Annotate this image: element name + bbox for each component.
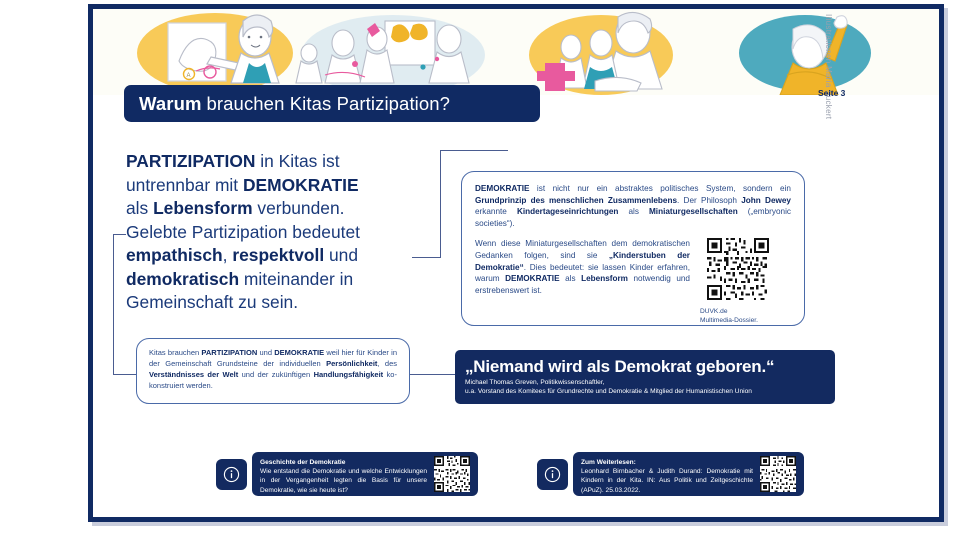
quote-source-line1: Michael Thomas Greven, Politikwissenscha… [465, 379, 825, 388]
demo-b2: Grundprinzip des menschlichen Zusammenle… [475, 196, 677, 205]
demokratie-qr-caption: DUVK.de Multimedia-Dossier. [698, 308, 758, 325]
illustration-band: A [93, 9, 939, 95]
info-heading-weiterlesen: Zum Weiterlesen: [581, 458, 753, 467]
hero-b-lebensform: Lebensform [153, 198, 253, 218]
hero-t4: verbunden. [253, 198, 345, 218]
hero-line-5: empathisch, respektvoll und [126, 244, 418, 268]
hero-t1: in Kitas ist [255, 151, 339, 171]
demokratie-qr-wrap[interactable]: DUVK.de Multimedia-Dossier. [698, 238, 778, 325]
connector-left-top [113, 234, 126, 235]
demokratie-paragraph-2-wrap: Wenn diese Miniaturgesellschaften dem de… [475, 238, 690, 325]
demokratie-lower-row: Wenn diese Miniaturgesellschaften dem de… [475, 238, 791, 325]
demo-t2: . Der Philosoph [677, 196, 741, 205]
illustration-credit: Illustrationen Maria Suckert [819, 14, 833, 124]
kitas-t2: und [257, 348, 274, 357]
hero-t7: miteinander in [239, 269, 353, 289]
hero-b-respektvoll: respektvoll [232, 245, 324, 265]
qr-code-icon[interactable] [760, 456, 796, 492]
poster-page: A [0, 0, 960, 540]
info-button-geschichte[interactable] [216, 459, 247, 490]
kitas-paragraph: Kitas brauchen PARTIZIPATION und DEMOKRA… [149, 347, 397, 391]
info-circle-icon[interactable] [544, 466, 561, 483]
kitas-t5: und der zukünftigen [238, 370, 313, 379]
info-text-weiterlesen: Zum Weiterlesen: Leonhard Birnbacher & J… [581, 458, 753, 495]
demo-b3: John Dewey [741, 196, 791, 205]
connector-right-vertical [440, 150, 441, 258]
demo-b8: Lebensform [581, 274, 628, 283]
info-circle-icon[interactable] [223, 466, 240, 483]
demo-b4: Kindertageseinrichtungen [517, 207, 618, 216]
info-body-weiterlesen: Leonhard Birnbacher & Judith Durand: Dem… [581, 468, 753, 493]
info-panel-geschichte[interactable]: Geschichte der Demokratie Wie entstand d… [252, 452, 478, 496]
demo-t8: als [560, 274, 582, 283]
demokratie-paragraph-1: DEMOKRATIE ist nicht nur ein abstraktes … [475, 183, 791, 229]
illustration-artwork: A [93, 9, 939, 95]
hero-b-demokratisch: demokratisch [126, 269, 239, 289]
kitas-info-box: Kitas brauchen PARTIZIPATION und DEMOKRA… [136, 338, 410, 404]
connector-right-top [440, 150, 508, 151]
page-title-bold: Warum [139, 93, 202, 115]
demo-t3: erkannte [475, 207, 517, 216]
hero-t2: untrennbar mit [126, 175, 243, 195]
demokratie-info-box: DEMOKRATIE ist nicht nur ein abstraktes … [461, 171, 805, 326]
hero-b-empathisch: empathisch [126, 245, 223, 265]
hero-statement: PARTIZIPATION in Kitas ist untrennbar mi… [126, 150, 418, 315]
kitas-b4: Verständnisses der Welt [149, 370, 238, 379]
kitas-b5: Handlungsfähigkeit [314, 370, 384, 379]
hero-line-2: untrennbar mit DEMOKRATIE [126, 174, 418, 198]
hero-t6: und [324, 245, 358, 265]
info-card-weiterlesen[interactable]: Zum Weiterlesen: Leonhard Birnbacher & J… [537, 452, 804, 496]
demokratie-paragraph-2: Wenn diese Miniaturgesellschaften dem de… [475, 238, 690, 296]
hero-line-3: als Lebensform verbunden. [126, 197, 418, 221]
kitas-t1: Kitas brauchen [149, 348, 201, 357]
connector-right-bottom [412, 257, 441, 258]
kitas-b3: Persönlichkeit [326, 359, 377, 368]
hero-line-4: Gelebte Partizipation bedeutet [126, 221, 418, 245]
info-body-geschichte: Wie entstand die Demokratie und welche E… [260, 468, 427, 493]
hero-line-6: demokratisch miteinander in [126, 268, 418, 292]
hero-line-7: Gemeinschaft zu sein. [126, 291, 418, 315]
connector-left-vertical [113, 234, 114, 375]
connector-kitas-to-quote [410, 374, 456, 375]
kitas-b1: PARTIZIPATION [201, 348, 257, 357]
page-number: Seite 3 [818, 88, 845, 98]
connector-left-bottom [113, 374, 137, 375]
qr-code-icon[interactable] [707, 238, 769, 300]
quote-source-line2: u.a. Vorstand des Komitees für Grundrech… [465, 388, 825, 397]
quote-banner: „Niemand wird als Demokrat geboren.“ Mic… [455, 350, 835, 404]
demo-b7: DEMOKRATIE [505, 274, 559, 283]
info-card-geschichte[interactable]: Geschichte der Demokratie Wie entstand d… [216, 452, 478, 496]
page-title-rest: brauchen Kitas Partizipation? [207, 93, 451, 115]
quote-text: „Niemand wird als Demokrat geboren.“ [465, 356, 825, 377]
hero-t5: , [223, 245, 233, 265]
demo-t4: als [618, 207, 649, 216]
hero-t3: als [126, 198, 153, 218]
hero-b-demokratie: DEMOKRATIE [243, 175, 359, 195]
info-button-weiterlesen[interactable] [537, 459, 568, 490]
demo-b1: DEMOKRATIE [475, 184, 529, 193]
kitas-b2: DEMOKRATIE [274, 348, 324, 357]
info-text-geschichte: Geschichte der Demokratie Wie entstand d… [260, 458, 427, 495]
svg-text:A: A [187, 73, 191, 79]
info-heading-geschichte: Geschichte der Demokratie [260, 458, 427, 467]
demokratie-qr-caption-line1: DUVK.de [700, 308, 758, 317]
page-title: Warumbrauchen Kitas Partizipation? [124, 85, 540, 122]
qr-code-icon[interactable] [434, 456, 470, 492]
hero-line-1: PARTIZIPATION in Kitas ist [126, 150, 418, 174]
info-panel-weiterlesen[interactable]: Zum Weiterlesen: Leonhard Birnbacher & J… [573, 452, 804, 496]
kitas-t4: , des [377, 359, 397, 368]
demo-t1: ist nicht nur ein abstraktes politisches… [529, 184, 791, 193]
demokratie-qr-caption-line2: Multimedia-Dossier. [700, 317, 758, 326]
hero-b-partizipation: PARTIZIPATION [126, 151, 255, 171]
demo-b5: Miniaturgesellschaften [649, 207, 738, 216]
